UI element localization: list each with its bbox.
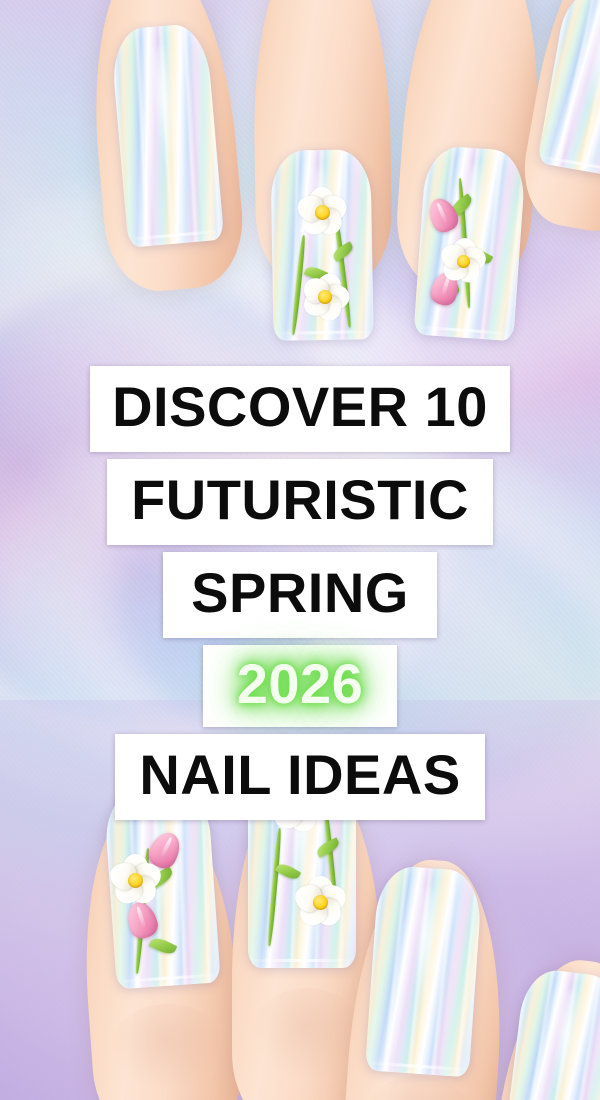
headline-line: 2026 bbox=[0, 645, 600, 727]
headline-line: FUTURISTIC bbox=[0, 459, 600, 545]
nail-tip-line bbox=[134, 230, 218, 240]
headline-line: DISCOVER 10 bbox=[0, 366, 600, 452]
headline-text-year-2026: 2026 bbox=[203, 645, 398, 727]
flower-center bbox=[128, 873, 143, 888]
flower-center bbox=[457, 255, 470, 268]
nail-tip-line bbox=[420, 326, 508, 335]
headline-text-discover-10: DISCOVER 10 bbox=[90, 366, 510, 452]
pin-canvas: DISCOVER 10 FUTURISTIC SPRING 2026 NAIL … bbox=[0, 0, 600, 1100]
flower-center bbox=[318, 290, 332, 304]
headline-block: DISCOVER 10 FUTURISTIC SPRING 2026 NAIL … bbox=[0, 366, 600, 827]
nail-bottom-3 bbox=[365, 865, 483, 1078]
headline-text-spring: SPRING bbox=[163, 552, 437, 638]
headline-text-futuristic: FUTURISTIC bbox=[107, 459, 493, 545]
headline-line: SPRING bbox=[0, 552, 600, 638]
nail-tip-line bbox=[372, 1061, 464, 1070]
headline-line: NAIL IDEAS bbox=[0, 734, 600, 820]
nail-top-1 bbox=[110, 22, 225, 248]
nail-tip-line bbox=[254, 959, 349, 962]
nail-tip-line bbox=[123, 974, 215, 983]
flower-center bbox=[315, 205, 330, 220]
headline-text-nail-ideas: NAIL IDEAS bbox=[115, 734, 484, 820]
flower-center bbox=[313, 895, 328, 910]
